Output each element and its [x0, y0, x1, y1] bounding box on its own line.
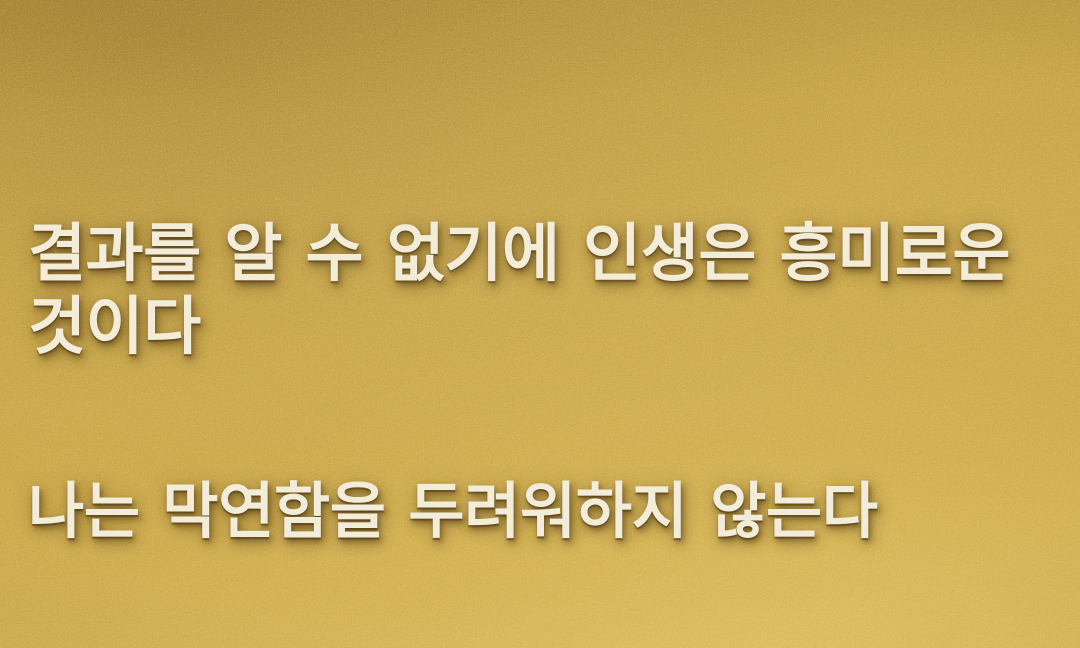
quote-text-layer: 결과를 알 수 없기에 인생은 흥미로운 것이다 나는 막연함을 두려워하지 않… [0, 0, 1080, 648]
quote-paragraph-2: 나는 막연함을 두려워하지 않는다 [28, 476, 1062, 547]
quote-paragraph-1: 결과를 알 수 없기에 인생은 흥미로운 것이다 [28, 218, 1062, 364]
quote-card: 결과를 알 수 없기에 인생은 흥미로운 것이다 나는 막연함을 두려워하지 않… [0, 0, 1080, 648]
